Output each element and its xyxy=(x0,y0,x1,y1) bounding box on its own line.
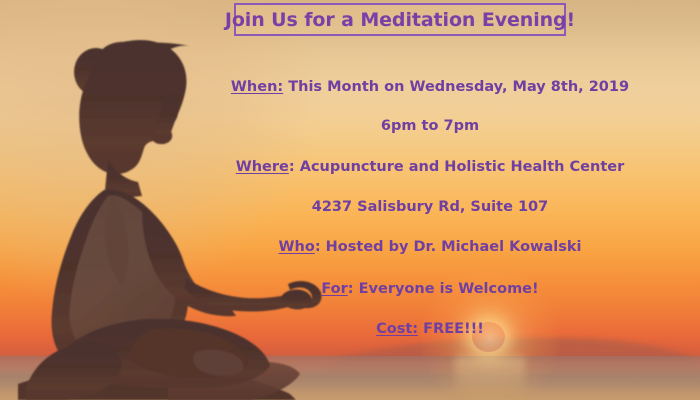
page-title: Join Us for a Meditation Evening! xyxy=(225,9,575,31)
time-value: 6pm to 7pm xyxy=(381,118,479,134)
when-value: This Month on Wednesday, May 8th, 2019 xyxy=(283,79,629,95)
detail-line-where: Where: Acupuncture and Holistic Health C… xyxy=(200,160,660,175)
meditation-flyer: Join Us for a Meditation Evening! When: … xyxy=(0,0,700,400)
for-value: : Everyone is Welcome! xyxy=(348,281,539,297)
address-value: 4237 Salisbury Rd, Suite 107 xyxy=(312,199,548,215)
where-value: : Acupuncture and Holistic Health Center xyxy=(289,159,624,175)
detail-line-when: When: This Month on Wednesday, May 8th, … xyxy=(200,80,660,95)
where-label: Where xyxy=(236,159,289,175)
cost-value: FREE!!! xyxy=(418,321,484,337)
detail-line-for: For: Everyone is Welcome! xyxy=(200,282,660,297)
title-box: Join Us for a Meditation Evening! xyxy=(234,3,566,36)
when-label: When: xyxy=(231,79,283,95)
flyer-details: When: This Month on Wednesday, May 8th, … xyxy=(200,62,660,337)
detail-line-who: Who: Hosted by Dr. Michael Kowalski xyxy=(200,240,660,255)
detail-line-address: 4237 Salisbury Rd, Suite 107 xyxy=(200,200,660,215)
cost-label: Cost: xyxy=(376,321,418,337)
for-label: For xyxy=(321,281,347,297)
who-value: : Hosted by Dr. Michael Kowalski xyxy=(315,239,582,255)
who-label: Who xyxy=(279,239,315,255)
detail-line-time: 6pm to 7pm xyxy=(200,119,660,134)
detail-line-cost: Cost: FREE!!! xyxy=(200,322,660,337)
